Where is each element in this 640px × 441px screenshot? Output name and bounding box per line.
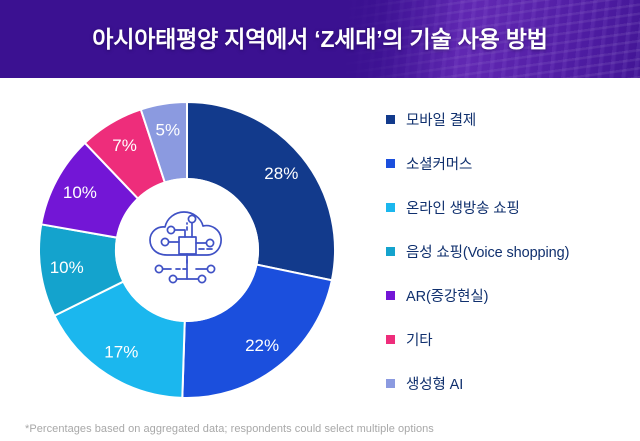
legend-item-label: 온라인 생방송 쇼핑 <box>406 197 520 218</box>
legend-swatch-icon <box>386 203 395 212</box>
legend-item-label: 소셜커머스 <box>406 153 472 174</box>
legend-item-label: 음성 쇼핑(Voice shopping) <box>406 241 569 262</box>
legend-item-mobile-payment[interactable]: 모바일 결제 <box>386 97 636 141</box>
legend-item-label: AR(증강현실) <box>406 285 488 306</box>
donut-slice-label: 7% <box>112 136 137 155</box>
legend-swatch-icon <box>386 379 395 388</box>
legend-item-etc[interactable]: 기타 <box>386 317 636 361</box>
chart-footnote: *Percentages based on aggregated data; r… <box>25 423 434 435</box>
donut-slice-label: 5% <box>156 121 181 140</box>
donut-slice-label: 17% <box>104 343 138 362</box>
legend-item-ar[interactable]: AR(증강현실) <box>386 273 636 317</box>
legend-swatch-icon <box>386 335 395 344</box>
legend-item-generative-ai[interactable]: 생성형 AI <box>386 361 636 405</box>
legend-item-voice-shopping[interactable]: 음성 쇼핑(Voice shopping) <box>386 229 636 273</box>
legend-item-label: 생성형 AI <box>406 373 463 394</box>
legend-item-live-shopping[interactable]: 온라인 생방송 쇼핑 <box>386 185 636 229</box>
donut-slice-label: 10% <box>63 183 97 202</box>
legend-swatch-icon <box>386 291 395 300</box>
donut-slice-label: 10% <box>50 258 84 277</box>
legend-item-label: 모바일 결제 <box>406 109 476 130</box>
legend-swatch-icon <box>386 115 395 124</box>
donut-center <box>115 178 259 322</box>
legend-item-social-commerce[interactable]: 소셜커머스 <box>386 141 636 185</box>
chart-legend: 모바일 결제소셜커머스온라인 생방송 쇼핑음성 쇼핑(Voice shoppin… <box>386 97 636 405</box>
page-header: 아시아태평양 지역에서 ‘Z세대’의 기술 사용 방법 <box>0 0 640 78</box>
donut-chart: 28%22%17%10%10%7%5% <box>37 100 337 400</box>
legend-swatch-icon <box>386 159 395 168</box>
page-title: 아시아태평양 지역에서 ‘Z세대’의 기술 사용 방법 <box>0 0 640 78</box>
cloud-network-icon <box>141 207 233 293</box>
donut-slice-label: 28% <box>264 164 298 183</box>
donut-slice-label: 22% <box>245 336 279 355</box>
legend-swatch-icon <box>386 247 395 256</box>
legend-item-label: 기타 <box>406 329 432 350</box>
